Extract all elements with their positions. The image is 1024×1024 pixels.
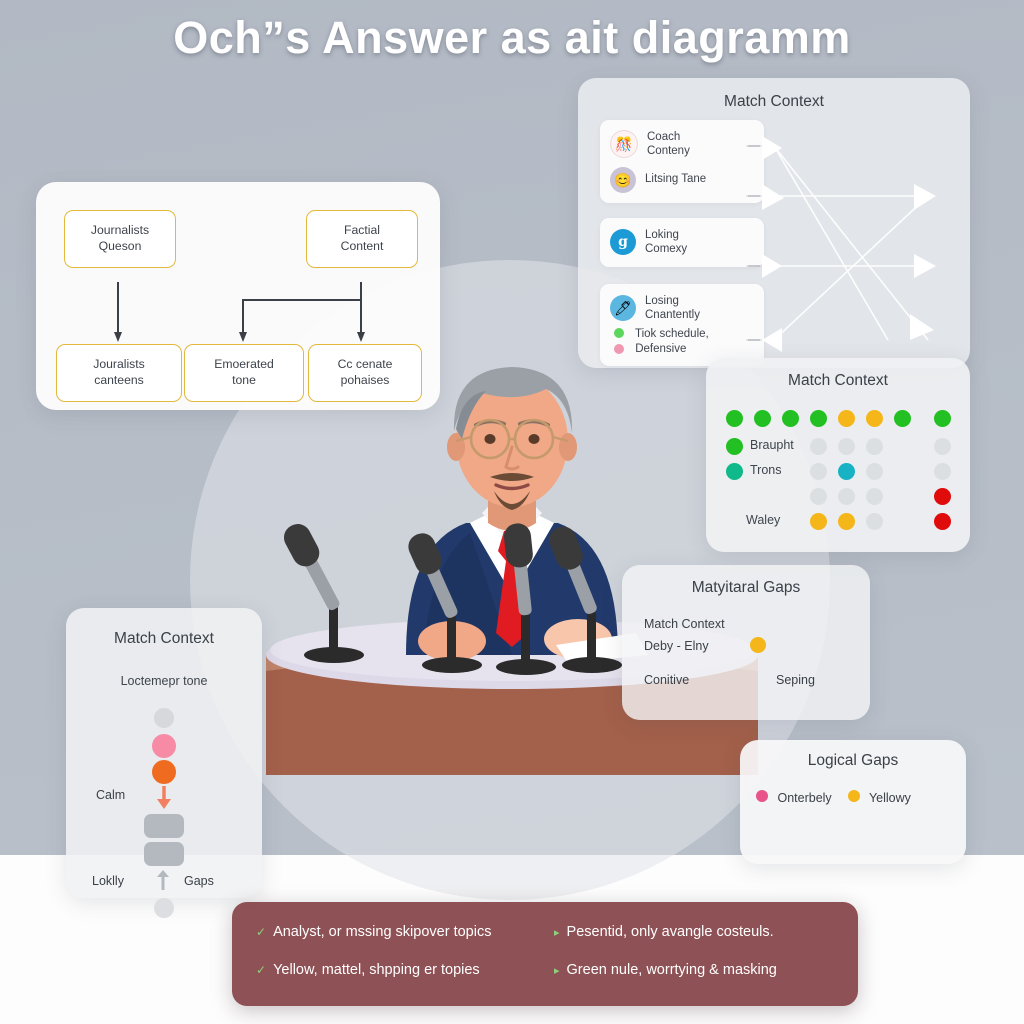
card-title: Matyitaral Gaps bbox=[622, 579, 870, 597]
flow-node-gray bbox=[154, 708, 174, 728]
legend-item: Defensive bbox=[614, 342, 754, 358]
banner-bullet-1: ✓Analyst, or mssing skipover topics bbox=[256, 924, 491, 940]
smiley-face-icon: 😊 bbox=[610, 167, 636, 193]
flow-node-label: Cc cenate bbox=[338, 357, 393, 373]
card-title: Match Context bbox=[66, 630, 262, 648]
material-gaps-line-2: Deby - Elny bbox=[644, 639, 709, 653]
flow-node-label: Factial bbox=[344, 223, 380, 239]
matrix-dot bbox=[810, 410, 827, 427]
legend-item: Yellowy bbox=[848, 790, 911, 805]
material-gaps-card: Matyitaral Gaps Match Context Deby - Eln… bbox=[622, 565, 870, 720]
flow-node-label: canteens bbox=[94, 373, 143, 389]
matrix-dot bbox=[726, 438, 743, 455]
matrix-dot bbox=[838, 438, 855, 455]
logical-gaps-card: Logical Gaps Onterbely Yellowy bbox=[740, 740, 966, 864]
confetti-icon: 🎊 bbox=[610, 130, 638, 158]
material-gaps-seping: Seping bbox=[776, 673, 815, 687]
matrix-row-label: Trons bbox=[750, 463, 782, 477]
matrix-dot bbox=[866, 463, 883, 480]
triangle-icon: ▸ bbox=[554, 927, 560, 939]
flow-node-label: Emoerated bbox=[214, 357, 274, 373]
match-context-top-card: Match Context 🎊 Coach Conteny 😊 Litsing … bbox=[578, 78, 970, 368]
list-item-label: Litsing Tane bbox=[645, 172, 706, 186]
matrix-dot bbox=[934, 488, 951, 505]
flow-block-2 bbox=[144, 842, 184, 866]
flow-node-cc-cenate-pohaises[interactable]: Cc cenate pohaises bbox=[308, 344, 422, 402]
flow-node-journalists-queson[interactable]: Journalists Queson bbox=[64, 210, 176, 268]
matrix-dot bbox=[934, 513, 951, 530]
legend-item: Tiok schedule, bbox=[614, 327, 754, 343]
matrix-dot bbox=[810, 438, 827, 455]
match-context-left-card: Match Context Loctemepr tone Calm Loklly… bbox=[66, 608, 262, 898]
matrix-dot bbox=[726, 463, 743, 480]
legend-swatch-pink bbox=[614, 344, 624, 354]
matrix-dot bbox=[810, 513, 827, 530]
matrix-dot bbox=[782, 410, 799, 427]
flow-node-jouralists-canteens[interactable]: Jouralists canteens bbox=[56, 344, 182, 402]
material-gaps-dot bbox=[750, 637, 766, 653]
flow-node-label: Content bbox=[341, 239, 384, 255]
banner-bullet-2: ▸Pesentid, only avangle costeuls. bbox=[554, 924, 774, 940]
flowchart-card: Journalists Queson Factial Content Joura… bbox=[36, 182, 440, 410]
letter-g-icon: g bbox=[610, 229, 636, 255]
matrix-dot bbox=[838, 410, 855, 427]
crossing-arrows bbox=[738, 118, 970, 368]
material-gaps-conitive: Conitive bbox=[644, 673, 689, 687]
material-gaps-line-1: Match Context bbox=[644, 617, 725, 631]
matrix-dot bbox=[934, 410, 951, 427]
list-item-label: Coach Conteny bbox=[647, 130, 690, 159]
banner-bullet-4: ▸Green nule, worrtying & masking bbox=[554, 962, 777, 978]
match-context-dots-card: Match Context Braupht Trons Waley bbox=[706, 358, 970, 552]
list-item-label: Losing Cnantently bbox=[645, 294, 700, 323]
check-icon: ✓ bbox=[256, 925, 266, 939]
matrix-row-label: Braupht bbox=[750, 438, 794, 452]
flow-node-label: Journalists bbox=[91, 223, 149, 239]
logical-gaps-legend: Onterbely Yellowy bbox=[756, 790, 950, 805]
matrix-row-label: Waley bbox=[746, 513, 780, 527]
label-gaps: Gaps bbox=[184, 874, 214, 888]
flow-node-pink bbox=[152, 734, 176, 758]
match-context-left-subtitle: Loctemepr tone bbox=[66, 674, 262, 688]
flow-node-factial-content[interactable]: Factial Content bbox=[306, 210, 418, 268]
summary-banner: ✓Analyst, or mssing skipover topics ▸Pes… bbox=[232, 902, 858, 1006]
flow-node-label: tone bbox=[232, 373, 256, 389]
legend-swatch-green bbox=[614, 328, 624, 338]
flow-block-1 bbox=[144, 814, 184, 838]
matrix-dot bbox=[838, 463, 855, 480]
flow-node-label: Queson bbox=[99, 239, 142, 255]
matrix-dot bbox=[726, 410, 743, 427]
matrix-dot bbox=[866, 513, 883, 530]
check-icon: ✓ bbox=[256, 963, 266, 977]
up-arrow-icon bbox=[154, 870, 172, 890]
page-title: Och”s Answer as ait diagramm bbox=[0, 12, 1024, 64]
flow-node-label: pohaises bbox=[341, 373, 390, 389]
matrix-dot bbox=[934, 438, 951, 455]
list-item-label: Loking Comexy bbox=[645, 228, 687, 257]
matrix-dot bbox=[934, 463, 951, 480]
legend-swatch-pink bbox=[756, 790, 768, 802]
legend-item: Onterbely bbox=[756, 790, 832, 805]
label-calm: Calm bbox=[96, 788, 125, 802]
matrix-dot bbox=[810, 463, 827, 480]
flow-node-gray-bottom bbox=[154, 898, 174, 918]
pen-circle-icon: 🖊 bbox=[610, 295, 636, 321]
flow-node-label: Jouralists bbox=[93, 357, 144, 373]
matrix-dot bbox=[866, 438, 883, 455]
matrix-dot bbox=[894, 410, 911, 427]
matrix-dot bbox=[754, 410, 771, 427]
matrix-dot bbox=[810, 488, 827, 505]
card-title: Match Context bbox=[706, 372, 970, 390]
matrix-dot bbox=[866, 488, 883, 505]
label-loklly: Loklly bbox=[92, 874, 124, 888]
screenshot-root: Och”s Answer as ait diagramm Journalists… bbox=[0, 0, 1024, 1024]
card-title: Match Context bbox=[578, 93, 970, 111]
flow-node-emoerated-tone[interactable]: Emoerated tone bbox=[184, 344, 304, 402]
matrix-dot bbox=[838, 513, 855, 530]
card-title: Logical Gaps bbox=[740, 752, 966, 770]
flow-node-orange bbox=[152, 760, 176, 784]
legend-swatch-yellow bbox=[848, 790, 860, 802]
down-arrow-icon bbox=[154, 786, 174, 810]
banner-bullet-3: ✓Yellow, mattel, shpping er topies bbox=[256, 962, 480, 978]
matrix-dot bbox=[866, 410, 883, 427]
triangle-icon: ▸ bbox=[554, 965, 560, 977]
matrix-dot bbox=[838, 488, 855, 505]
